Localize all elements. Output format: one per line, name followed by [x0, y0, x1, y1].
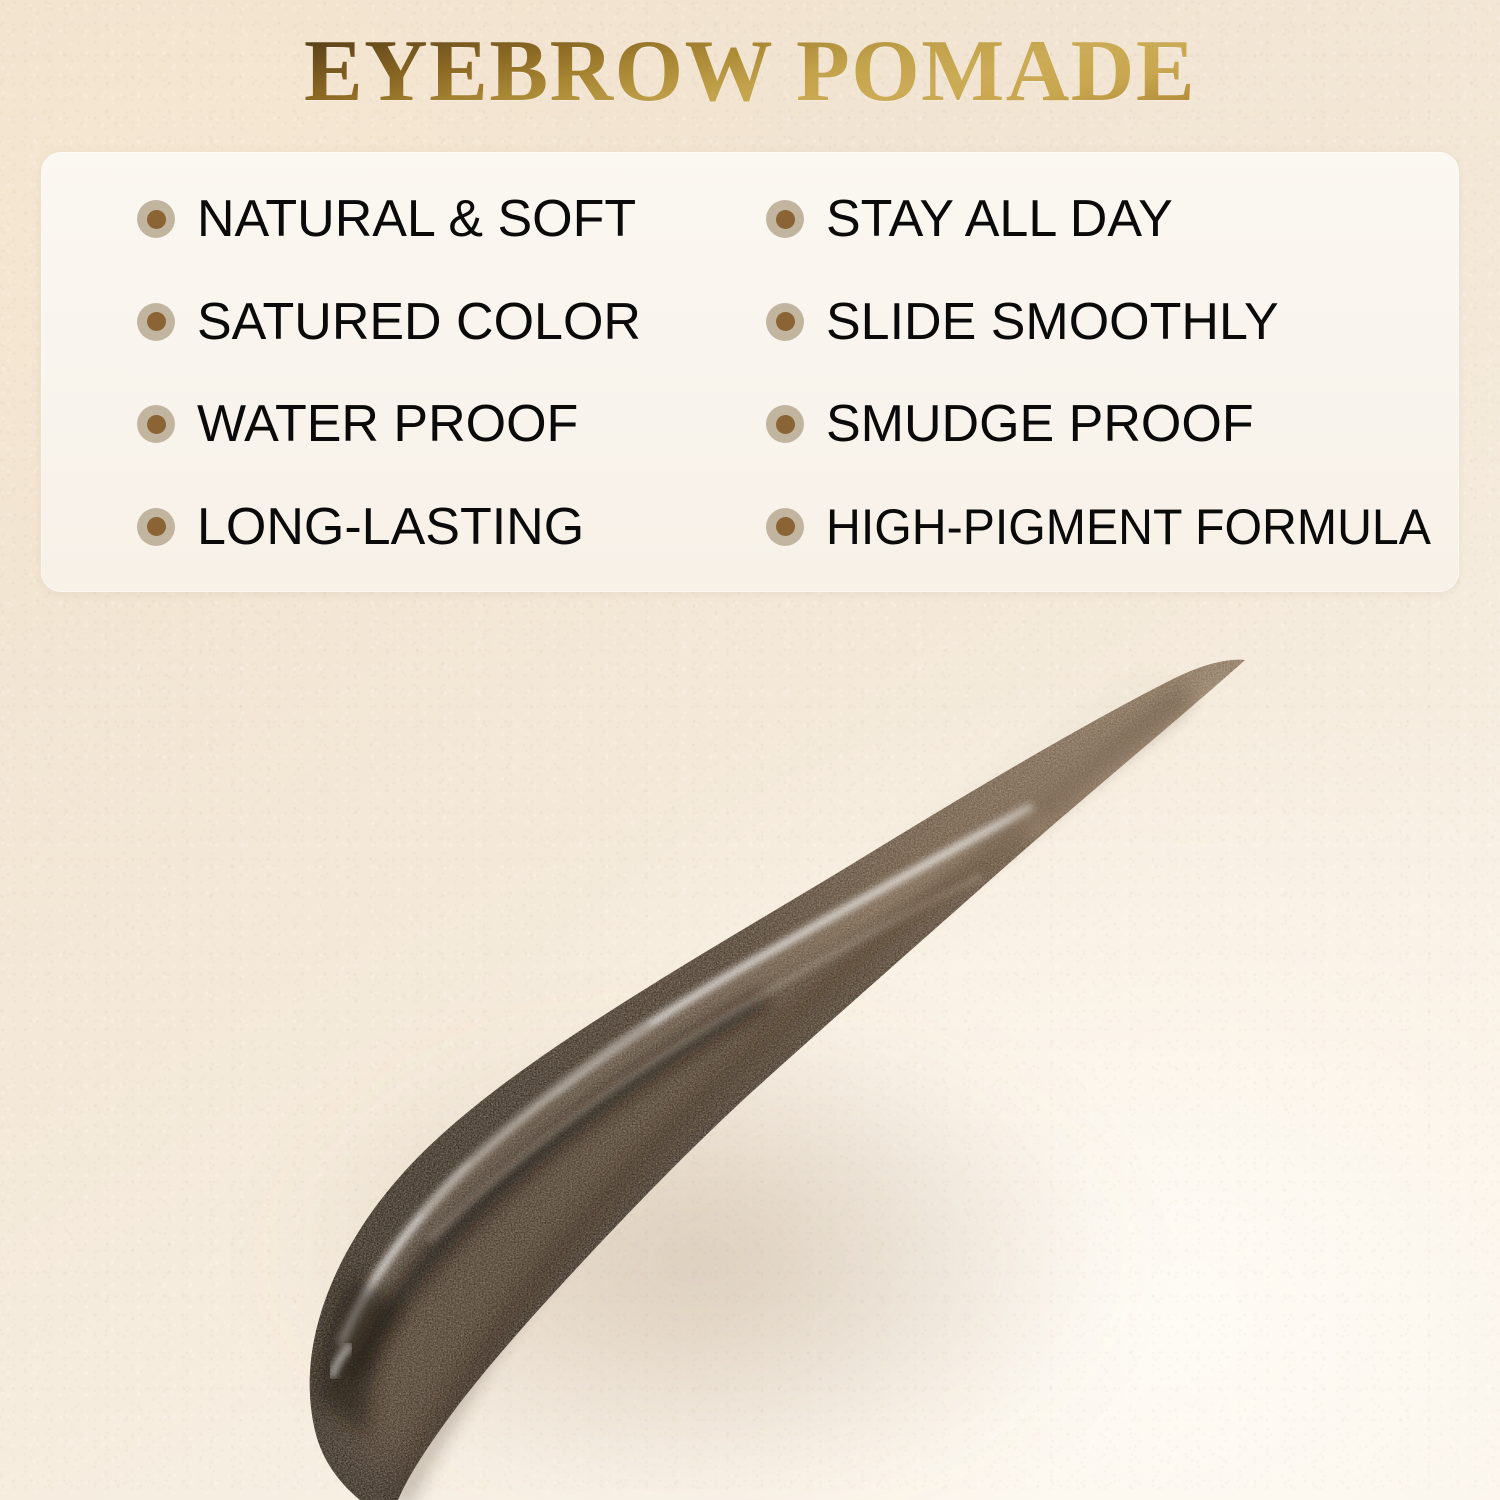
features-card: NATURAL & SOFT STAY ALL DAY SATURED COLO…: [41, 152, 1459, 592]
feature-item-long-lasting: LONG-LASTING: [41, 476, 709, 579]
bullet-dot-icon: [766, 405, 804, 443]
product-feature-page: EYEBROW POMADE NATURAL & SOFT STAY ALL D…: [0, 0, 1500, 1500]
feature-label: WATER PROOF: [197, 398, 578, 450]
pomade-swatch: [0, 600, 1500, 1500]
bullet-dot-icon: [137, 405, 175, 443]
feature-item-slide-smoothly: SLIDE SMOOTHLY: [709, 271, 1459, 374]
feature-label: SMUDGE PROOF: [826, 398, 1254, 450]
feature-item-satured-color: SATURED COLOR: [41, 271, 709, 374]
bullet-dot-icon: [137, 508, 175, 546]
feature-label: SLIDE SMOOTHLY: [826, 296, 1279, 348]
feature-item-high-pigment-formula: HIGH-PIGMENT FORMULA: [709, 476, 1459, 579]
bullet-dot-icon: [766, 303, 804, 341]
bullet-dot-icon: [137, 303, 175, 341]
feature-item-stay-all-day: STAY ALL DAY: [709, 168, 1459, 271]
page-title-container: EYEBROW POMADE: [0, 26, 1500, 118]
feature-label: STAY ALL DAY: [826, 193, 1173, 245]
bullet-dot-icon: [766, 508, 804, 546]
feature-item-natural-soft: NATURAL & SOFT: [41, 168, 709, 271]
feature-label: NATURAL & SOFT: [197, 193, 636, 245]
bullet-dot-icon: [766, 200, 804, 238]
feature-label: LONG-LASTING: [197, 501, 584, 553]
features-grid: NATURAL & SOFT STAY ALL DAY SATURED COLO…: [41, 152, 1459, 592]
page-title: EYEBROW POMADE: [304, 26, 1196, 118]
feature-item-smudge-proof: SMUDGE PROOF: [709, 373, 1459, 476]
bullet-dot-icon: [137, 200, 175, 238]
feature-item-water-proof: WATER PROOF: [41, 373, 709, 476]
feature-label: SATURED COLOR: [197, 296, 641, 348]
feature-label: HIGH-PIGMENT FORMULA: [826, 502, 1431, 552]
